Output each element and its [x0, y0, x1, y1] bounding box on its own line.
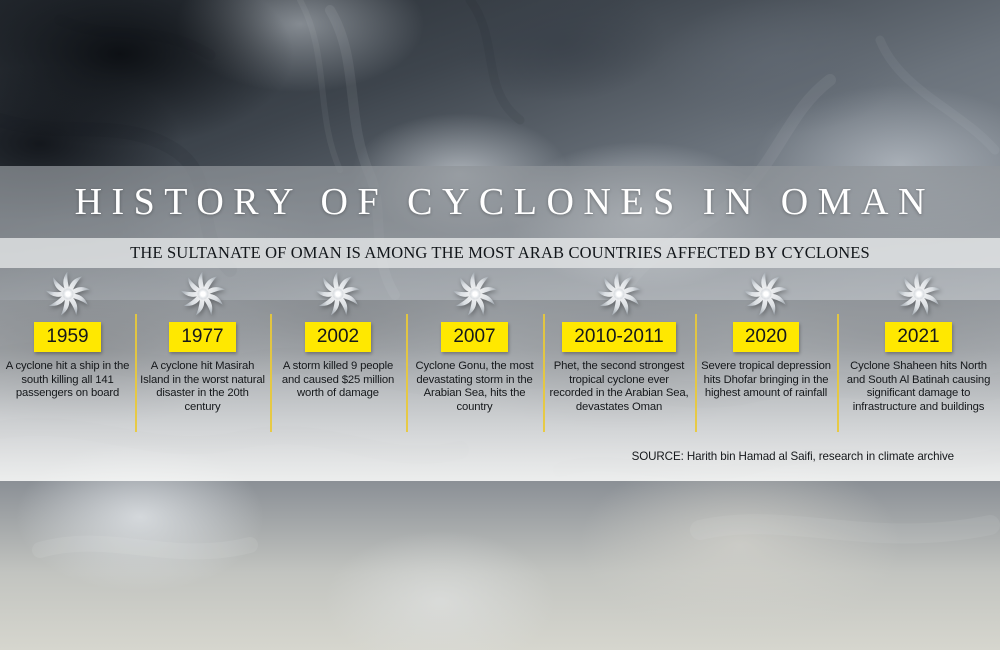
event-description: Severe tropical depression hits Dhofar b… — [695, 360, 837, 401]
page-title: HISTORY OF CYCLONES IN OMAN — [65, 180, 935, 224]
year-badge: 1959 — [34, 322, 100, 352]
timeline-divider — [837, 314, 839, 432]
cyclone-spiral-icon — [897, 270, 941, 316]
timeline-entry-2020: 2020Severe tropical depression hits Dhof… — [695, 270, 837, 450]
info-panel: HISTORY OF CYCLONES IN OMAN THE SULTANAT… — [0, 166, 1000, 481]
year-badge: 2007 — [441, 322, 507, 352]
event-description: A cyclone hit Masirah Island in the wors… — [135, 360, 270, 414]
cyclone-spiral-icon — [181, 270, 225, 316]
cyclone-spiral-icon — [597, 270, 641, 316]
year-badge: 2021 — [885, 322, 951, 352]
event-description: Cyclone Gonu, the most devastating storm… — [406, 360, 543, 414]
event-description: A cyclone hit a ship in the south killin… — [0, 360, 135, 401]
cyclone-spiral-icon — [453, 270, 497, 316]
timeline-entry-2002: 2002A storm killed 9 people and caused $… — [270, 270, 406, 450]
timeline-entry-2021: 2021Cyclone Shaheen hits North and South… — [837, 270, 1000, 450]
event-description: Phet, the second strongest tropical cycl… — [543, 360, 695, 414]
subtitle-strip: THE SULTANATE OF OMAN IS AMONG THE MOST … — [0, 238, 1000, 268]
year-badge: 2002 — [305, 322, 371, 352]
infographic-root: HISTORY OF CYCLONES IN OMAN THE SULTANAT… — [0, 0, 1000, 650]
timeline-entry-1959: 1959A cyclone hit a ship in the south ki… — [0, 270, 135, 450]
cyclone-spiral-icon — [316, 270, 360, 316]
cyclone-spiral-icon — [744, 270, 788, 316]
year-badge: 1977 — [169, 322, 235, 352]
cyclone-spiral-icon — [46, 270, 90, 316]
timeline-entry-1977: 1977A cyclone hit Masirah Island in the … — [135, 270, 270, 450]
timeline-divider — [695, 314, 697, 432]
year-badge: 2020 — [733, 322, 799, 352]
timeline-divider — [270, 314, 272, 432]
timeline-divider — [543, 314, 545, 432]
title-band: HISTORY OF CYCLONES IN OMAN — [0, 166, 1000, 238]
timeline-entry-2007: 2007Cyclone Gonu, the most devastating s… — [406, 270, 543, 450]
page-subtitle: THE SULTANATE OF OMAN IS AMONG THE MOST … — [130, 243, 870, 263]
timeline-divider — [406, 314, 408, 432]
event-description: Cyclone Shaheen hits North and South Al … — [837, 360, 1000, 414]
timeline-entry-2010-2011: 2010-2011Phet, the second strongest trop… — [543, 270, 695, 450]
event-description: A storm killed 9 people and caused $25 m… — [270, 360, 406, 401]
timeline-divider — [135, 314, 137, 432]
year-badge: 2010-2011 — [562, 322, 675, 352]
cyclone-timeline: 1959A cyclone hit a ship in the south ki… — [0, 270, 1000, 450]
source-credit: SOURCE: Harith bin Hamad al Saifi, resea… — [632, 450, 954, 463]
